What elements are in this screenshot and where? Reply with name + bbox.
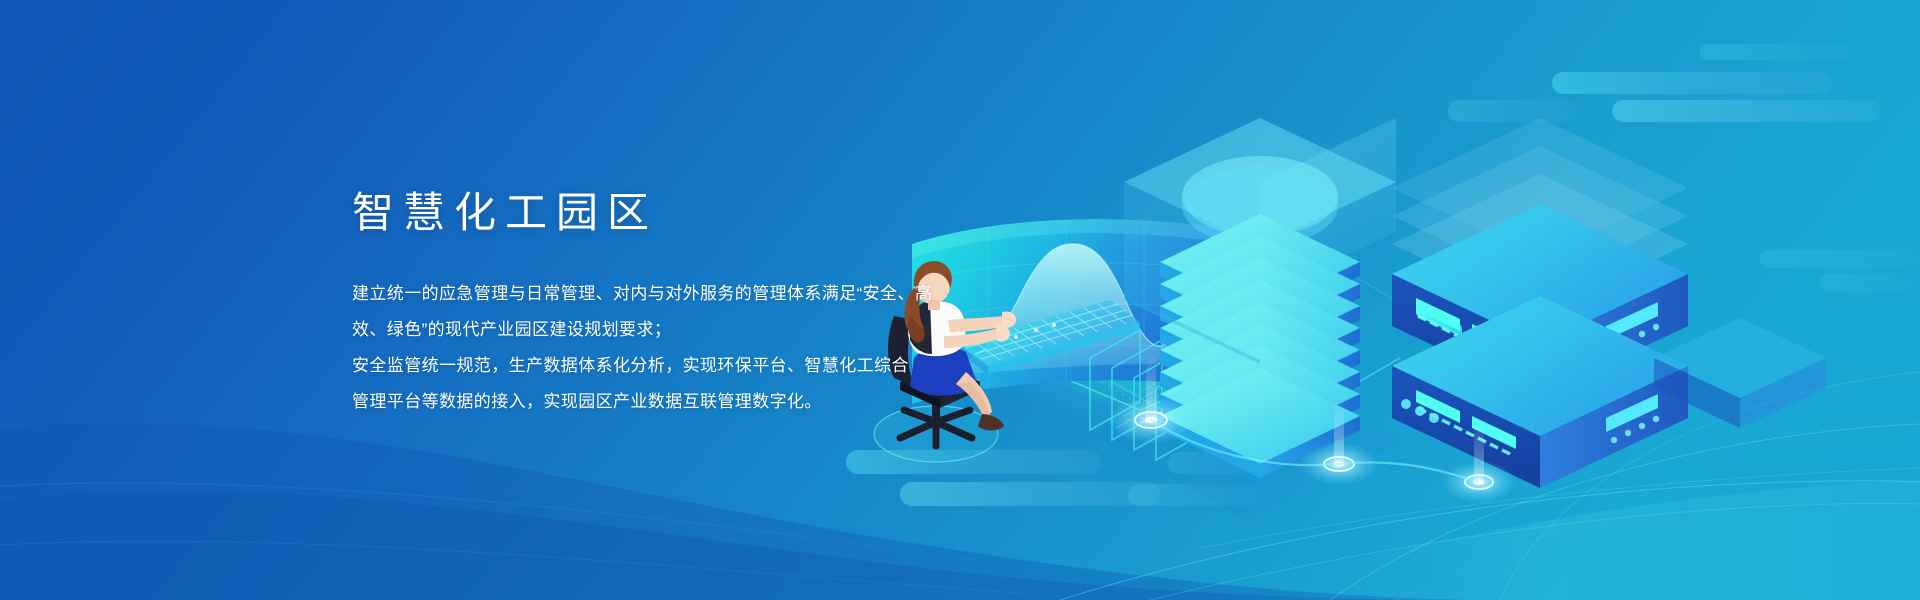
glow-node-tower	[1107, 350, 1195, 444]
rack-leds-2	[1401, 390, 1516, 454]
holo-panel-lines	[1090, 330, 1206, 460]
cloud-bars-right-mid	[1760, 250, 1920, 292]
rack-unit-2	[1392, 296, 1688, 488]
data-tower-stack	[1124, 96, 1396, 478]
circuit-ground-plane	[1030, 268, 1426, 522]
hero-text-block: 智慧化工园区 建立统一的应急管理与日常管理、对内与对外服务的管理体系满足“安全、…	[352, 188, 1052, 420]
rack-leds-1	[1416, 298, 1516, 362]
server-rack-far-right	[1654, 318, 1826, 428]
bottom-left-wave-group	[0, 423, 1500, 600]
hero-description: 建立统一的应急管理与日常管理、对内与对外服务的管理体系满足“安全、高 效、绿色”…	[352, 276, 1052, 420]
hero-banner: 智慧化工园区 建立统一的应急管理与日常管理、对内与对外服务的管理体系满足“安全、…	[0, 0, 1920, 600]
bottom-right-wave-group	[1060, 372, 1920, 600]
glow-node-right	[1441, 420, 1517, 503]
rack-panel-1	[1606, 302, 1659, 351]
cloud-bars-mid-left	[846, 450, 1258, 506]
data-rain	[1190, 96, 1340, 198]
cloud-bars-top-right	[1448, 44, 1880, 122]
page-title: 智慧化工园区	[352, 188, 1052, 238]
rack-panel-2	[1606, 394, 1659, 443]
glow-nodes	[1107, 350, 1517, 503]
tower-discs	[1160, 214, 1360, 478]
description-line-3: 安全监管统一规范，生产数据体系化分析，实现环保平台、智慧化工综合	[352, 348, 1052, 384]
rack-unit-1	[1392, 204, 1688, 396]
description-line-4: 管理平台等数据的接入，实现园区产业数据互联管理数字化。	[352, 384, 1052, 420]
glow-node-mid	[1299, 400, 1379, 486]
description-line-2: 效、绿色”的现代产业园区建设规划要求；	[352, 312, 1052, 348]
server-rack-right	[1392, 98, 1688, 488]
description-line-1: 建立统一的应急管理与日常管理、对内与对外服务的管理体系满足“安全、高	[352, 276, 1052, 312]
